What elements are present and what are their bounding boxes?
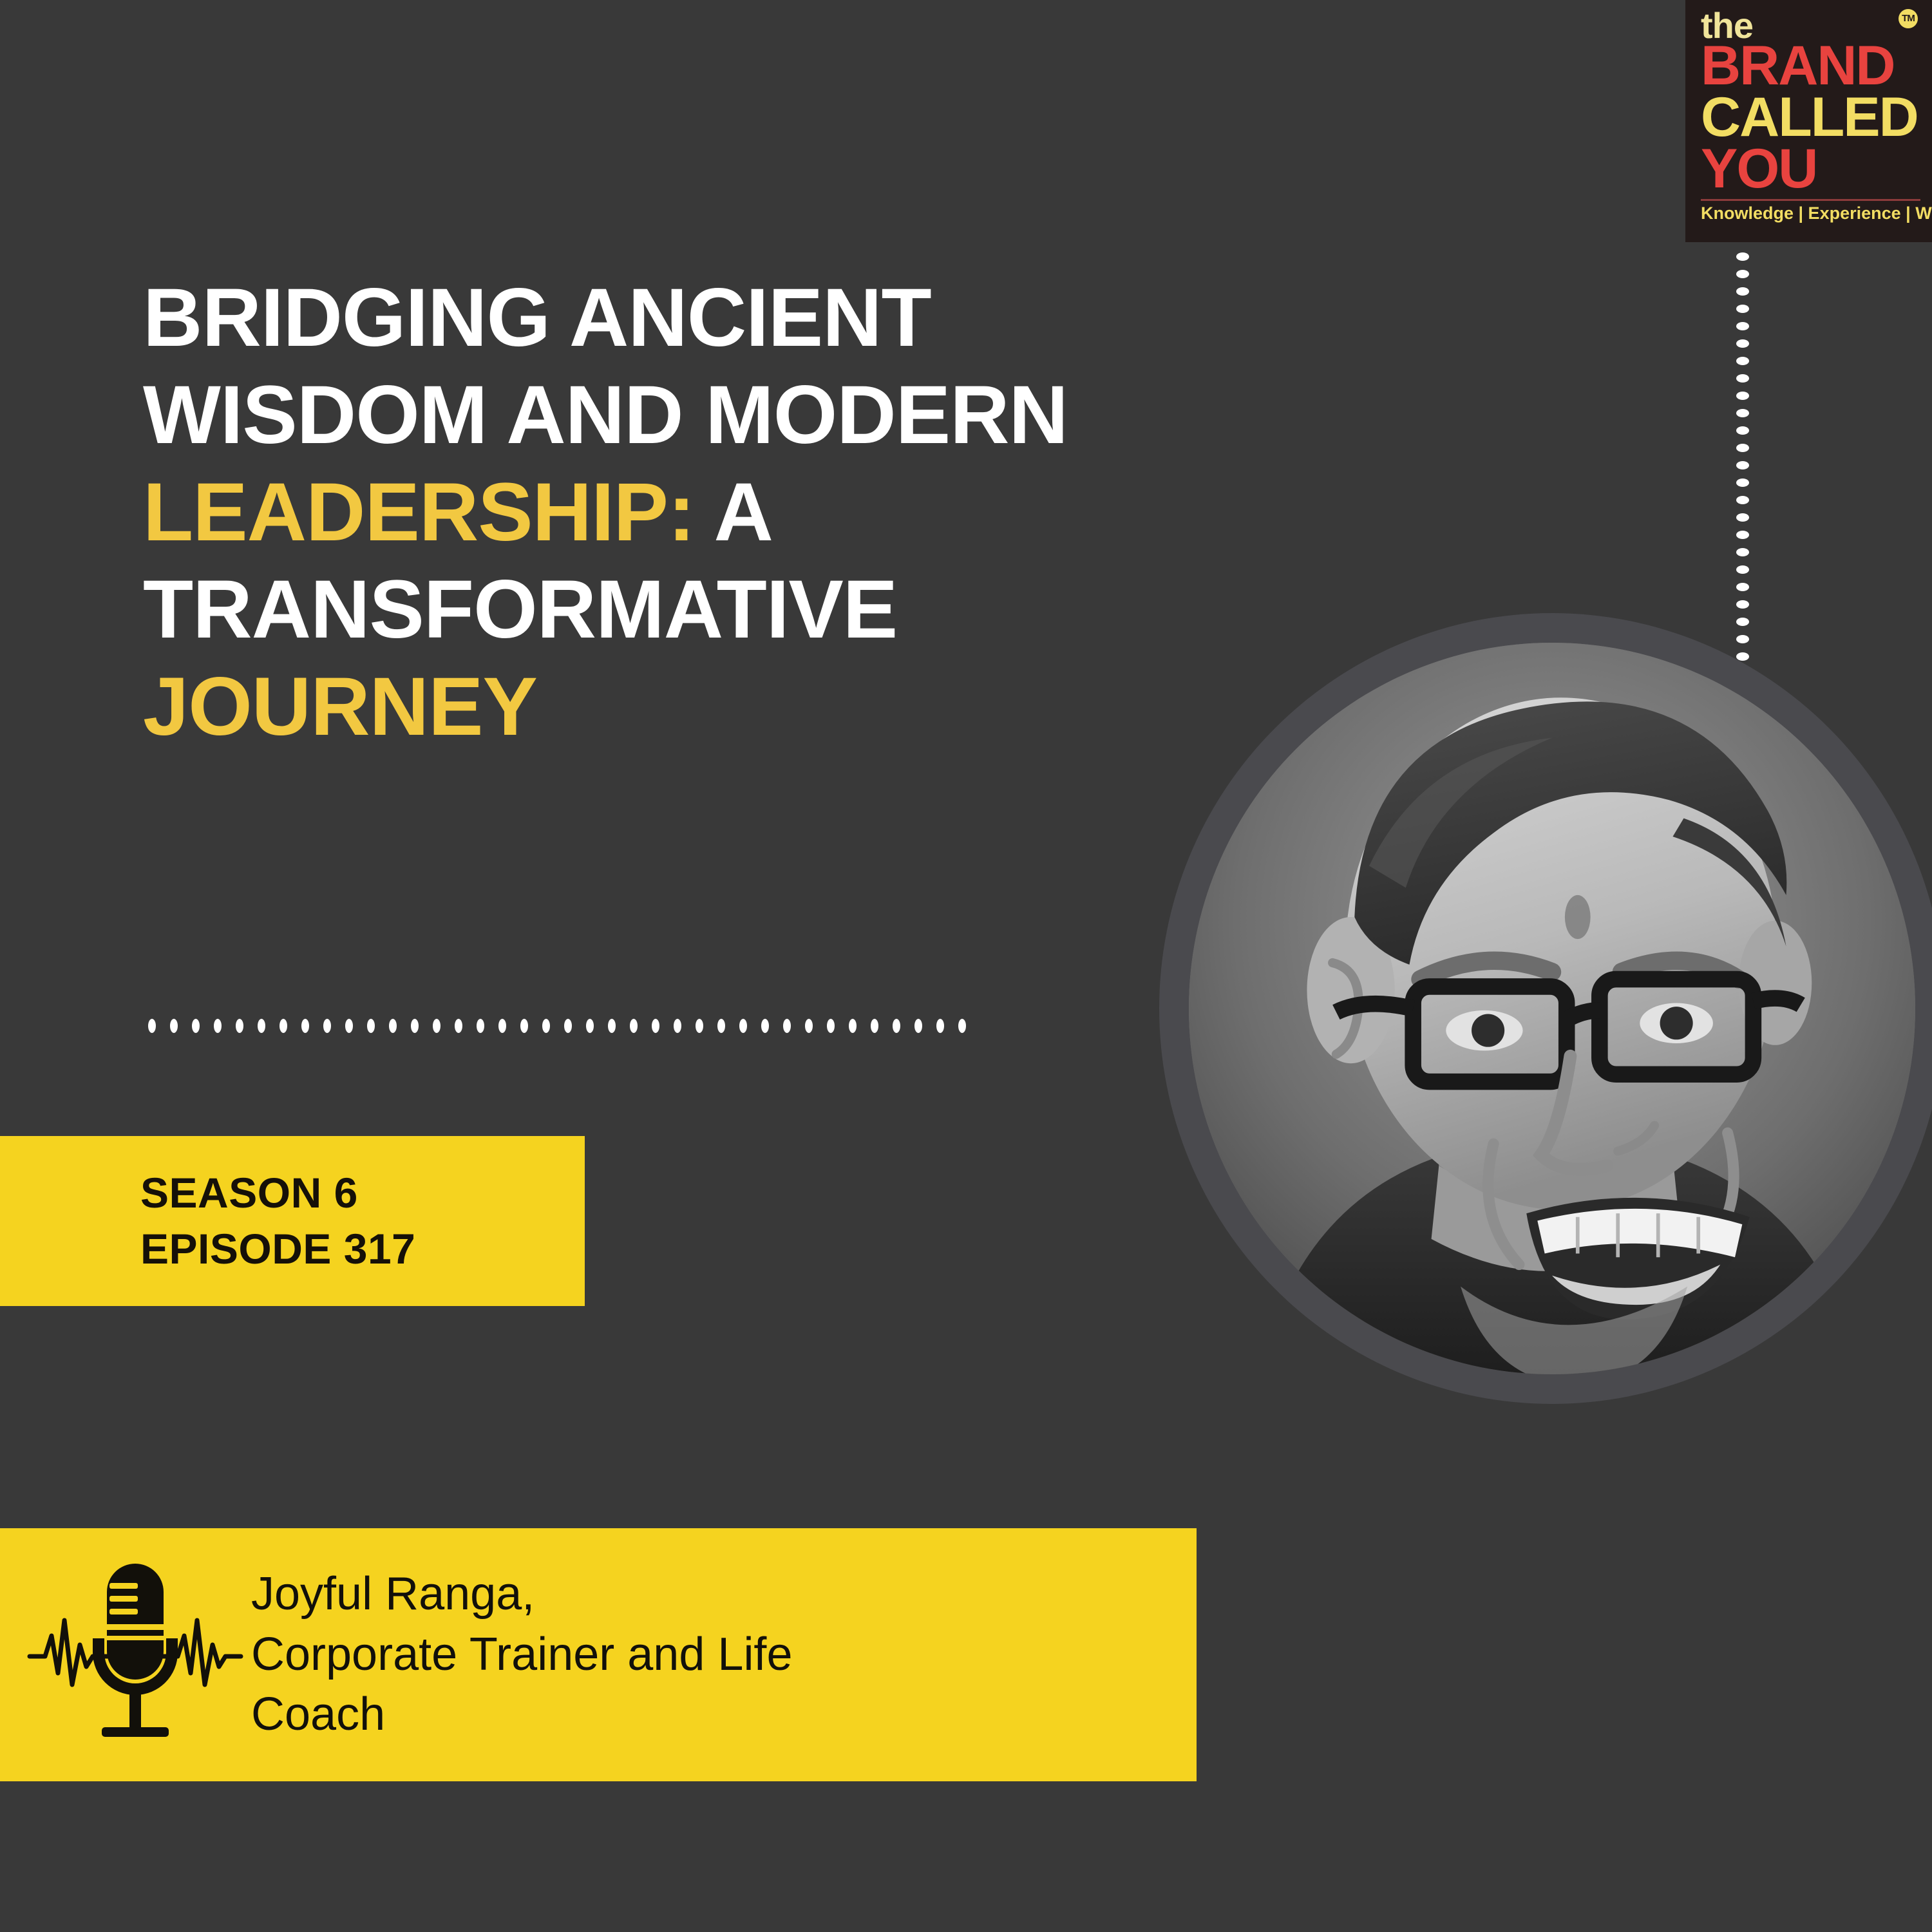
divider-dot: [323, 1019, 331, 1033]
divider-dot: [192, 1019, 200, 1033]
guest-portrait-illustration: [1189, 643, 1915, 1374]
divider-dot: [739, 1019, 747, 1033]
connector-dot: [1736, 374, 1749, 383]
divider-dot: [433, 1019, 440, 1033]
divider-dot: [805, 1019, 813, 1033]
divider-dot: [389, 1019, 397, 1033]
connector-dot: [1736, 513, 1749, 522]
divider-dot: [542, 1019, 550, 1033]
brand-logo-called: CALLED: [1701, 92, 1920, 144]
divider-dot: [258, 1019, 265, 1033]
connector-dot: [1736, 635, 1749, 643]
divider-dot: [411, 1019, 419, 1033]
connector-dot: [1736, 392, 1749, 400]
title-line-3-highlight: LEADERSHIP:: [143, 466, 695, 558]
guest-title-line-1: Corporate Trainer and Life: [251, 1629, 792, 1680]
brand-logo-tagline: Knowledge | Experience | Wisdom: [1701, 205, 1920, 222]
divider-dot: [958, 1019, 966, 1033]
guest-name-and-title: Joyful Ranga, Corporate Trainer and Life…: [245, 1564, 1197, 1745]
microphone-waveform-icon: [26, 1558, 245, 1752]
connector-dot: [1736, 461, 1749, 469]
connector-dot: [1736, 548, 1749, 556]
avatar-ring: [1159, 613, 1932, 1404]
divider-dot: [367, 1019, 375, 1033]
divider-dot: [761, 1019, 769, 1033]
divider-dot: [477, 1019, 484, 1033]
divider-dot: [236, 1019, 243, 1033]
divider-dot: [827, 1019, 835, 1033]
mic-icon-svg: [26, 1558, 245, 1752]
connector-dot: [1736, 305, 1749, 313]
divider-dot: [783, 1019, 791, 1033]
divider-dot: [498, 1019, 506, 1033]
brand-logo-panel: TM the BRAND CALLED YOU Knowledge | Expe…: [1685, 0, 1932, 242]
title-line-3-rest: A: [695, 466, 773, 558]
connector-dot: [1736, 252, 1749, 261]
connector-dot: [1736, 322, 1749, 330]
divider-dot: [914, 1019, 922, 1033]
connector-dot: [1736, 444, 1749, 452]
season-episode-badge: SEASON 6 EPISODE 317: [0, 1136, 585, 1306]
guest-banner: Joyful Ranga, Corporate Trainer and Life…: [0, 1528, 1197, 1781]
divider-dot: [893, 1019, 900, 1033]
connector-dot: [1736, 652, 1749, 661]
title-line-1: BRIDGING ANCIENT: [143, 272, 931, 364]
divider-dot: [849, 1019, 857, 1033]
divider-dot: [608, 1019, 616, 1033]
connector-dot: [1736, 618, 1749, 626]
guest-name: Joyful Ranga,: [251, 1568, 535, 1620]
divider-dot: [652, 1019, 659, 1033]
divider-dot: [345, 1019, 353, 1033]
connector-dot: [1736, 600, 1749, 609]
divider-dot: [564, 1019, 572, 1033]
divider-dot: [630, 1019, 638, 1033]
divider-dot: [520, 1019, 528, 1033]
divider-dot: [301, 1019, 309, 1033]
avatar: [1189, 643, 1915, 1374]
title-line-2: WISDOM AND MODERN: [143, 369, 1068, 461]
divider-dot: [717, 1019, 725, 1033]
connector-dot: [1736, 496, 1749, 504]
episode-label: EPISODE 317: [140, 1221, 585, 1277]
divider-dot: [871, 1019, 878, 1033]
guest-title-line-2: Coach: [251, 1689, 385, 1740]
connector-dot: [1736, 478, 1749, 487]
title-line-5-highlight: JOURNEY: [143, 661, 537, 753]
divider-dot: [936, 1019, 944, 1033]
brand-logo-divider: [1701, 199, 1920, 201]
connector-dot: [1736, 287, 1749, 296]
divider-dot: [170, 1019, 178, 1033]
connector-dot: [1736, 531, 1749, 539]
season-label: SEASON 6: [140, 1165, 585, 1221]
divider-dot: [455, 1019, 462, 1033]
connector-dot: [1736, 339, 1749, 348]
connector-dot: [1736, 426, 1749, 435]
connector-dot: [1736, 270, 1749, 278]
title-line-4: TRANSFORMATIVE: [143, 563, 897, 656]
connector-dot: [1736, 583, 1749, 591]
divider-dot: [214, 1019, 222, 1033]
page-title: BRIDGING ANCIENT WISDOM AND MODERN LEADE…: [143, 269, 1302, 755]
divider-dot: [586, 1019, 594, 1033]
connector-dot: [1736, 565, 1749, 574]
connector-dot: [1736, 409, 1749, 417]
divider-dot: [696, 1019, 703, 1033]
dotted-divider: [148, 1019, 972, 1033]
divider-dot: [279, 1019, 287, 1033]
brand-logo-brand: BRAND: [1701, 41, 1920, 92]
podcast-episode-cover: TM the BRAND CALLED YOU Knowledge | Expe…: [0, 0, 1932, 1932]
trademark-icon: TM: [1899, 9, 1918, 28]
brand-logo-you: YOU: [1701, 144, 1920, 195]
vertical-dotted-connector: [1736, 252, 1750, 665]
divider-dot: [674, 1019, 681, 1033]
divider-dot: [148, 1019, 156, 1033]
connector-dot: [1736, 357, 1749, 365]
